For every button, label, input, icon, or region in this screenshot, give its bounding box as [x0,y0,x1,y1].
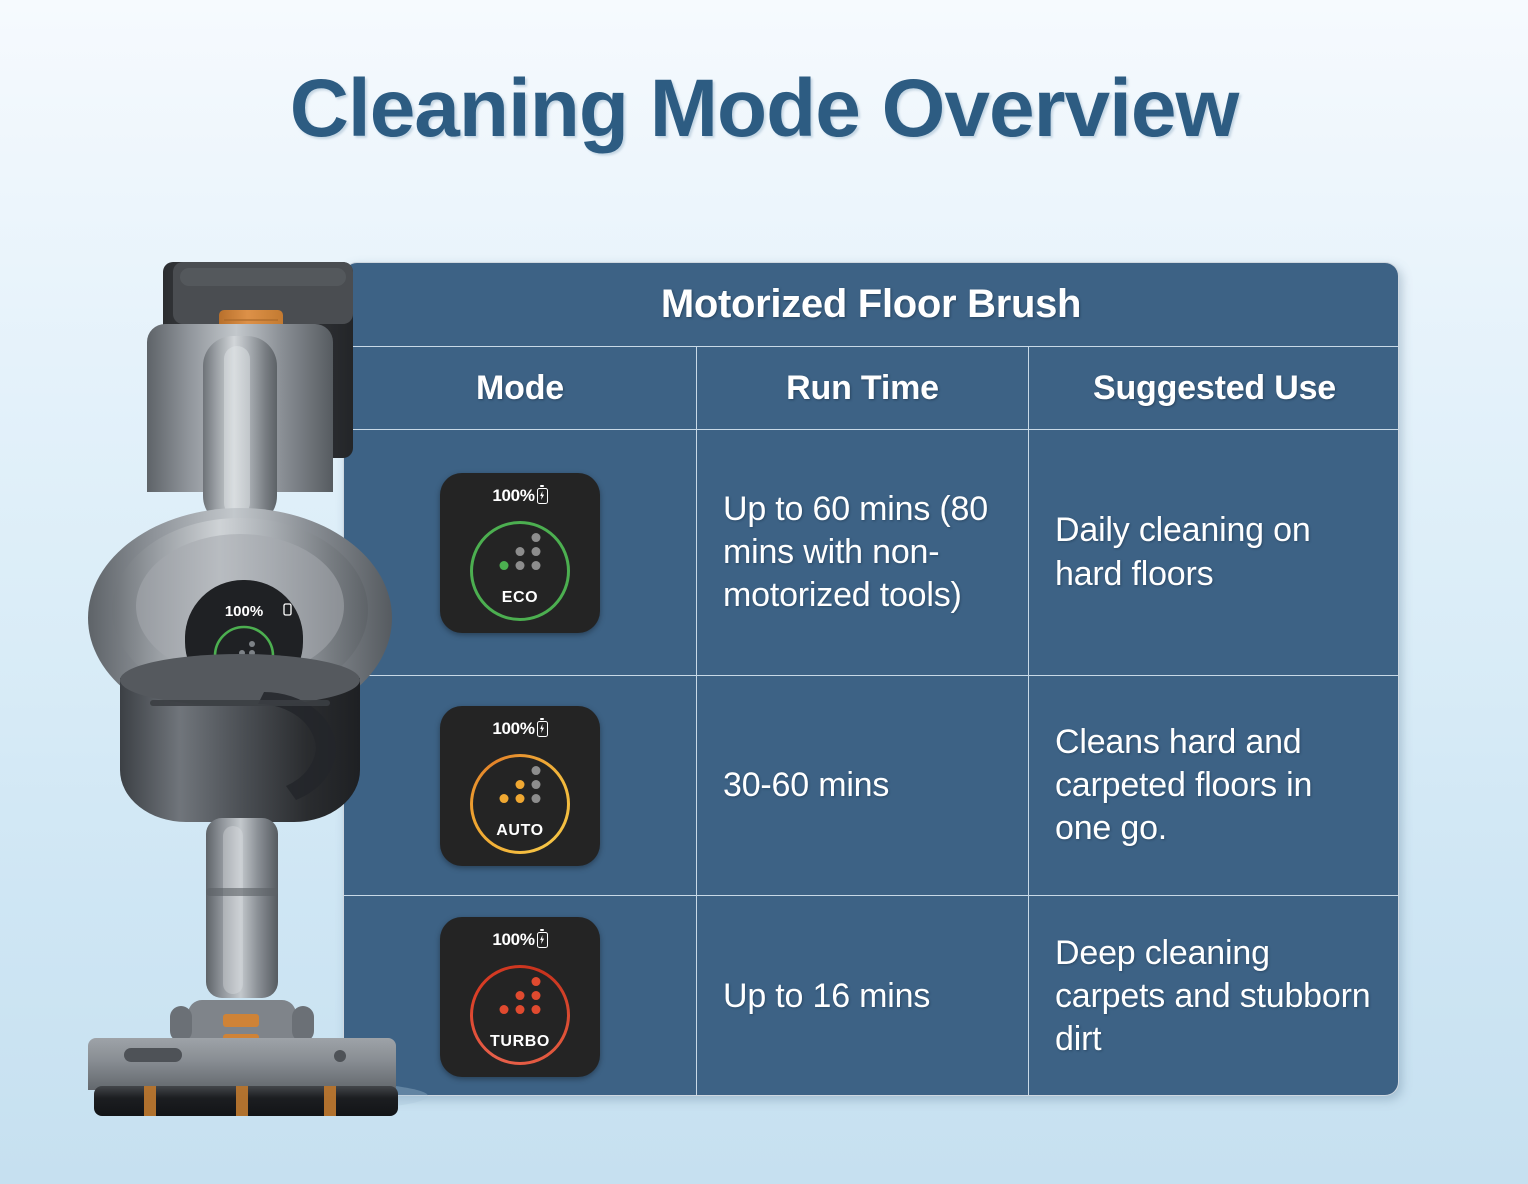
battery-percent-label: 100% [492,719,534,739]
run-time-value: Up to 60 mins (80 mins with non-motorize… [723,488,1002,618]
battery-percent-label: 100% [492,486,534,506]
suggested-use-value: Deep cleaning carpets and stubborn dirt [1055,932,1374,1062]
table-cell-suggested-use: Deep cleaning carpets and stubborn dirt [1029,895,1399,1096]
table-cell-run-time: 30-60 mins [697,675,1029,895]
column-header-suggested-use: Suggested Use [1029,346,1399,429]
cordless-stick-vacuum-illustration: 100% ECO [88,248,448,1118]
mode-display-eco[interactable]: 100% ECO [440,473,600,633]
mode-label-auto: AUTO [440,822,600,840]
cleaning-mode-table: Motorized Floor Brush Mode Run Time Sugg… [343,262,1399,1096]
battery-percent-label: 100% [492,930,534,950]
table-title: Motorized Floor Brush [344,263,1398,346]
table-cell-run-time: Up to 60 mins (80 mins with non-motorize… [697,429,1029,675]
table-grid: Mode Run Time Suggested Use 100% ECO [344,346,1398,1096]
page-title: Cleaning Mode Overview [0,62,1528,156]
battery-status-turbo: 100% [440,930,600,950]
suggested-use-value: Cleans hard and carpeted floors in one g… [1055,721,1374,851]
mode-label-turbo: TURBO [440,1033,600,1051]
table-cell-suggested-use: Cleans hard and carpeted floors in one g… [1029,675,1399,895]
power-level-dots-auto [500,766,541,803]
mode-display-auto[interactable]: 100% AUTO [440,706,600,866]
run-time-value: Up to 16 mins [723,975,930,1018]
power-level-dots-turbo [500,977,541,1014]
battery-charging-icon [537,721,548,737]
column-header-run-time: Run Time [697,346,1029,429]
svg-text:100%: 100% [225,603,263,620]
battery-charging-icon [537,932,548,948]
run-time-value: 30-60 mins [723,764,889,807]
table-cell-run-time: Up to 16 mins [697,895,1029,1096]
mode-label-eco: ECO [440,589,600,607]
battery-charging-icon [537,488,548,504]
power-level-dots-eco [500,533,541,570]
mode-display-turbo[interactable]: 100% TURBO [440,917,600,1077]
table-cell-suggested-use: Daily cleaning on hard floors [1029,429,1399,675]
suggested-use-value: Daily cleaning on hard floors [1055,509,1374,595]
battery-status-eco: 100% [440,486,600,506]
battery-status-auto: 100% [440,719,600,739]
